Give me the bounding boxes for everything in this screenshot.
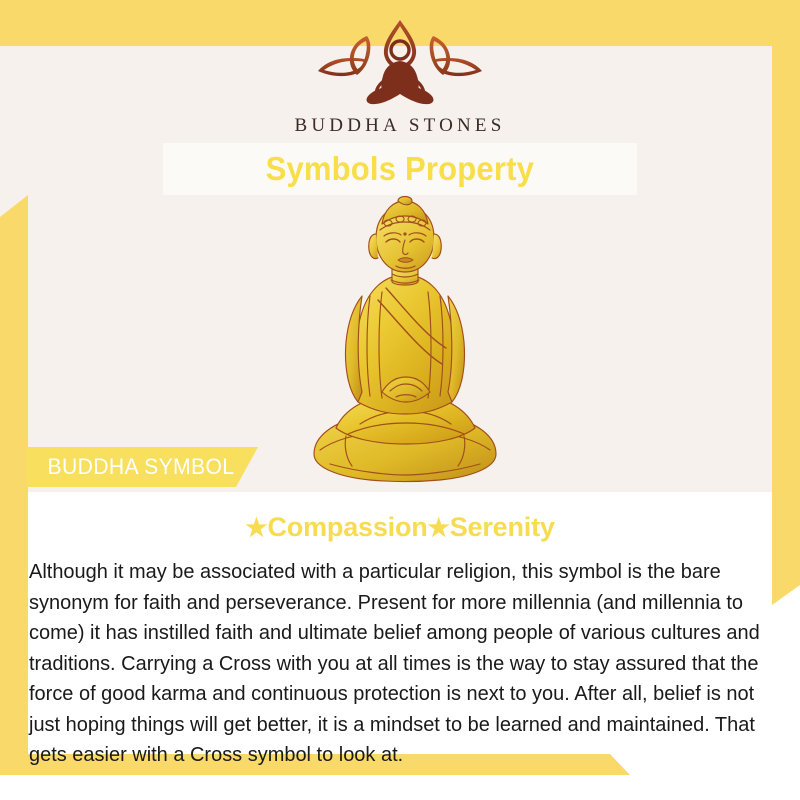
seated-golden-buddha-meditation-icon: [300, 196, 510, 488]
page-title: Symbols Property: [266, 150, 534, 188]
category-tag-label: BUDDHA SYMBOL: [30, 454, 234, 480]
brand-name: BUDDHA STONES: [0, 115, 800, 137]
hero-image: [300, 196, 510, 488]
poster-canvas: BUDDHA STONES Symbols Property: [0, 0, 800, 800]
attribute-serenity: Serenity: [450, 512, 555, 542]
title-banner: Symbols Property: [163, 143, 637, 195]
lotus-meditation-figure-icon: [311, 18, 489, 110]
brand-logo: BUDDHA STONES: [0, 18, 800, 137]
attributes-headline: ★Compassion★Serenity: [0, 512, 800, 543]
star-icon: ★: [428, 514, 450, 542]
description-paragraph: Although it may be associated with a par…: [29, 557, 762, 771]
attribute-compassion: Compassion: [268, 512, 428, 542]
star-icon: ★: [245, 514, 267, 542]
category-tag: BUDDHA SYMBOL: [26, 447, 258, 487]
